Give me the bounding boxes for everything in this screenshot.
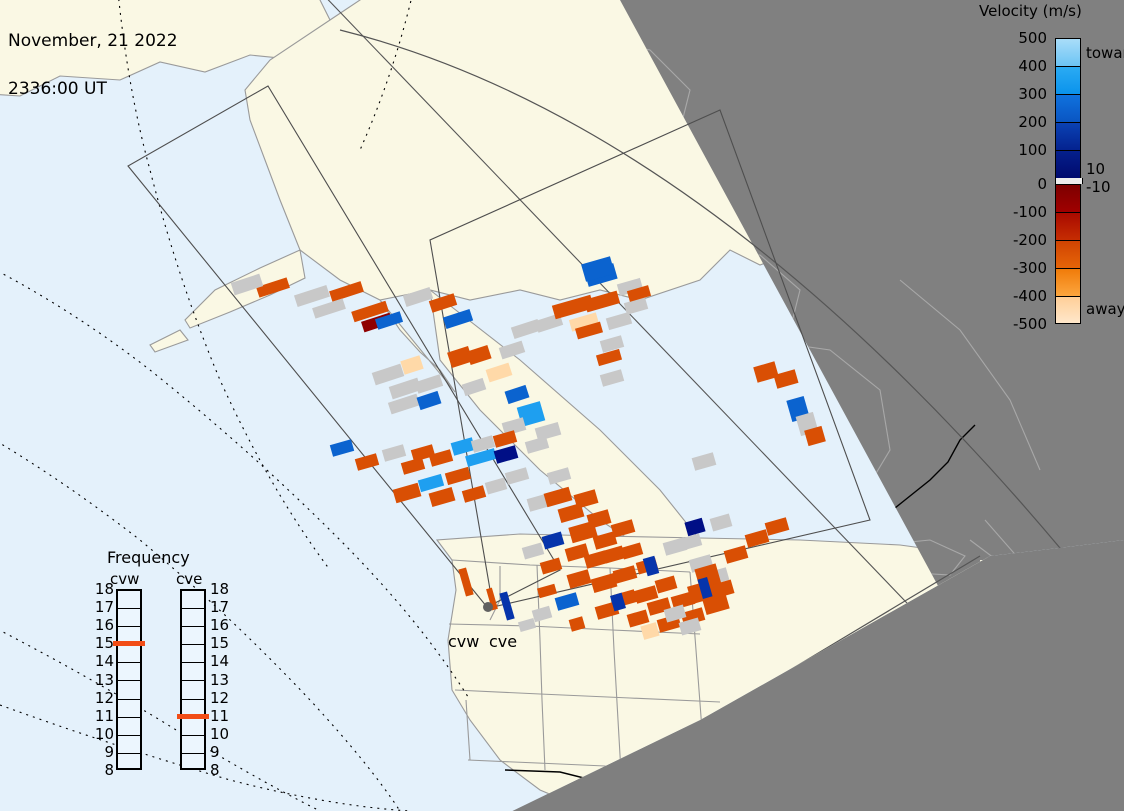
frequency-tick-label: 13: [88, 671, 114, 689]
site-label-cvw: cvw: [448, 632, 479, 651]
frequency-tick-label: 9: [210, 743, 236, 761]
colorbar-tick-label: -500: [995, 315, 1047, 333]
frequency-cell: [118, 736, 140, 754]
colorbar-tick-label: 200: [995, 113, 1047, 131]
colorbar-tick-label: -200: [995, 231, 1047, 249]
frequency-tick-label: 17: [210, 598, 236, 616]
colorbar-tick-label: -400: [995, 287, 1047, 305]
frequency-tick-label: 14: [88, 652, 114, 670]
frequency-tick-label: 8: [210, 761, 236, 779]
frequency-tick-label: 14: [210, 652, 236, 670]
frequency-tick-label: 13: [210, 671, 236, 689]
frequency-tick-label: 18: [210, 580, 236, 598]
frequency-cell: [182, 663, 204, 681]
colorbar-band-neg300-neg400: [1055, 268, 1081, 296]
colorbar-tick-label: 500: [995, 29, 1047, 47]
frequency-tick-label: 12: [88, 689, 114, 707]
colorbar-band-neg200-neg300: [1055, 240, 1081, 268]
frequency-title: Frequency: [107, 548, 190, 567]
colorbar: [1055, 38, 1081, 318]
frequency-cell: [182, 754, 204, 772]
frequency-cell: [182, 736, 204, 754]
frequency-cell: [182, 645, 204, 663]
colorbar-tick-label: -100: [995, 203, 1047, 221]
colorbar-band-200-100: [1055, 122, 1081, 150]
colorbar-label-away: away: [1086, 300, 1124, 318]
frequency-cell: [182, 591, 204, 609]
frequency-tick-label: 15: [210, 634, 236, 652]
frequency-tick-label: 15: [88, 634, 114, 652]
frequency-bar-cvw[interactable]: [116, 589, 142, 770]
timestamp-date: November, 21 2022: [8, 33, 178, 49]
frequency-tick-label: 17: [88, 598, 114, 616]
frequency-cell: [118, 645, 140, 663]
timestamp: November, 21 2022 2336:00 UT: [8, 1, 178, 129]
colorbar-label-negative-threshold: -10: [1086, 178, 1111, 196]
frequency-tick-label: 11: [88, 707, 114, 725]
frequency-panel-label-cvw: cvw: [110, 570, 139, 588]
colorbar-band-300-200: [1055, 94, 1081, 122]
radar-map-screenshot: November, 21 2022 2336:00 UT cvw cve Vel…: [0, 0, 1124, 811]
frequency-bar-cve[interactable]: [180, 589, 206, 770]
colorbar-title: Velocity (m/s): [979, 2, 1082, 20]
colorbar-tick-label: 100: [995, 141, 1047, 159]
frequency-panel-label-cve: cve: [176, 570, 202, 588]
frequency-cell: [182, 718, 204, 736]
frequency-tick-label: 10: [88, 725, 114, 743]
colorbar-tick-label: 400: [995, 57, 1047, 75]
colorbar-band-500-400: [1055, 38, 1081, 66]
colorbar-tick-label: 0: [995, 175, 1047, 193]
frequency-cell: [118, 700, 140, 718]
frequency-cell: [118, 681, 140, 699]
colorbar-tick-label: -300: [995, 259, 1047, 277]
colorbar-tick-label: 300: [995, 85, 1047, 103]
colorbar-label-toward: toward: [1086, 44, 1124, 62]
frequency-cell: [182, 627, 204, 645]
colorbar-band-0-neg100: [1055, 184, 1081, 212]
frequency-tick-label: 9: [88, 743, 114, 761]
frequency-cell: [182, 681, 204, 699]
frequency-cell: [118, 591, 140, 609]
colorbar-band-400-300: [1055, 66, 1081, 94]
frequency-marker-cve: [177, 714, 209, 719]
frequency-tick-label: 12: [210, 689, 236, 707]
frequency-tick-label: 10: [210, 725, 236, 743]
frequency-tick-label: 11: [210, 707, 236, 725]
timestamp-time: 2336:00 UT: [8, 81, 178, 97]
frequency-tick-label: 16: [210, 616, 236, 634]
frequency-tick-label: 8: [88, 761, 114, 779]
frequency-tick-label: 16: [88, 616, 114, 634]
frequency-cell: [118, 609, 140, 627]
colorbar-band-100-0: [1055, 150, 1081, 178]
frequency-cell: [118, 718, 140, 736]
colorbar-band-neg100-neg200: [1055, 212, 1081, 240]
frequency-cell: [118, 663, 140, 681]
frequency-tick-label: 18: [88, 580, 114, 598]
radar-site-marker: [483, 602, 493, 612]
frequency-marker-cvw: [113, 641, 145, 646]
site-label-cve: cve: [489, 632, 517, 651]
frequency-cell: [182, 609, 204, 627]
colorbar-band-neg400-neg500: [1055, 296, 1081, 324]
frequency-cell: [118, 754, 140, 772]
colorbar-label-positive-threshold: 10: [1086, 160, 1105, 178]
